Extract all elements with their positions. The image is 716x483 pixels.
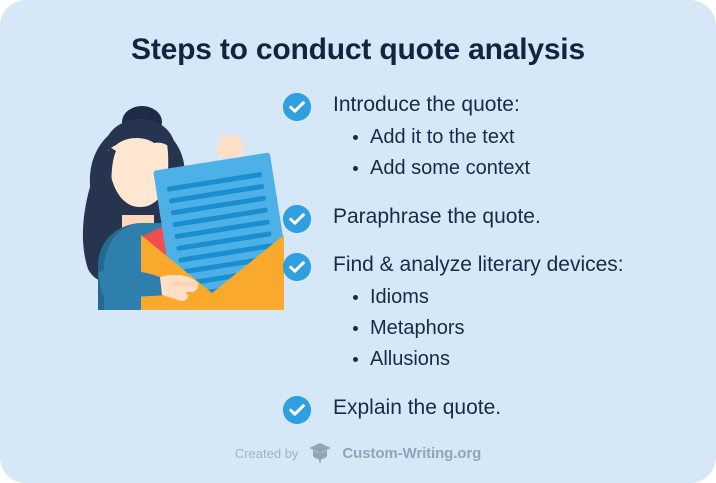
sublist-item-label: Add some context: [370, 157, 530, 179]
bullet-dot-icon: [353, 135, 358, 140]
footer-created-by-label: Created by: [235, 446, 299, 461]
sublist-item-label: Allusions: [370, 348, 450, 370]
bullet-dot-icon: [353, 295, 358, 300]
step-item: Paraphrase the quote.: [283, 202, 693, 232]
sublist-item: Metaphors: [352, 313, 693, 344]
sublist-item: Allusions: [352, 344, 693, 375]
bullet-dot-icon: [353, 357, 358, 362]
check-circle-icon: [283, 396, 311, 424]
steps-list: Introduce the quote: Add it to the text …: [283, 90, 693, 423]
sublist-item: Add some context: [352, 153, 693, 184]
bullet-dot-icon: [353, 326, 358, 331]
sublist-item-label: Idioms: [370, 286, 429, 308]
sublist-item: Add it to the text: [352, 122, 693, 153]
step-item: Explain the quote.: [283, 393, 693, 423]
page-title: Steps to conduct quote analysis: [0, 30, 716, 70]
check-circle-icon: [283, 93, 311, 121]
sublist-item-label: Metaphors: [370, 317, 465, 339]
step-item: Find & analyze literary devices: Idioms …: [283, 250, 693, 375]
step-label: Paraphrase the quote.: [333, 202, 693, 232]
step-item: Introduce the quote: Add it to the text …: [283, 90, 693, 184]
bullet-dot-icon: [353, 166, 358, 171]
step-label: Find & analyze literary devices:: [333, 250, 693, 280]
step-label: Explain the quote.: [333, 393, 693, 423]
graduation-cap-pen-logo-icon: [307, 440, 333, 466]
step-sublist: Add it to the text Add some context: [333, 122, 693, 184]
sublist-item-label: Add it to the text: [370, 126, 515, 148]
check-circle-icon: [283, 253, 311, 281]
footer-credit: Created by Custom-Writing.org: [0, 440, 716, 466]
sublist-item: Idioms: [352, 282, 693, 313]
footer-brand-label: Custom-Writing.org: [342, 445, 481, 462]
step-label: Introduce the quote:: [333, 90, 693, 120]
woman-holding-letter-illustration: [36, 95, 284, 310]
check-circle-icon: [283, 205, 311, 233]
step-sublist: Idioms Metaphors Allusions: [333, 282, 693, 375]
infographic-card: Steps to conduct quote analysis: [0, 0, 716, 483]
